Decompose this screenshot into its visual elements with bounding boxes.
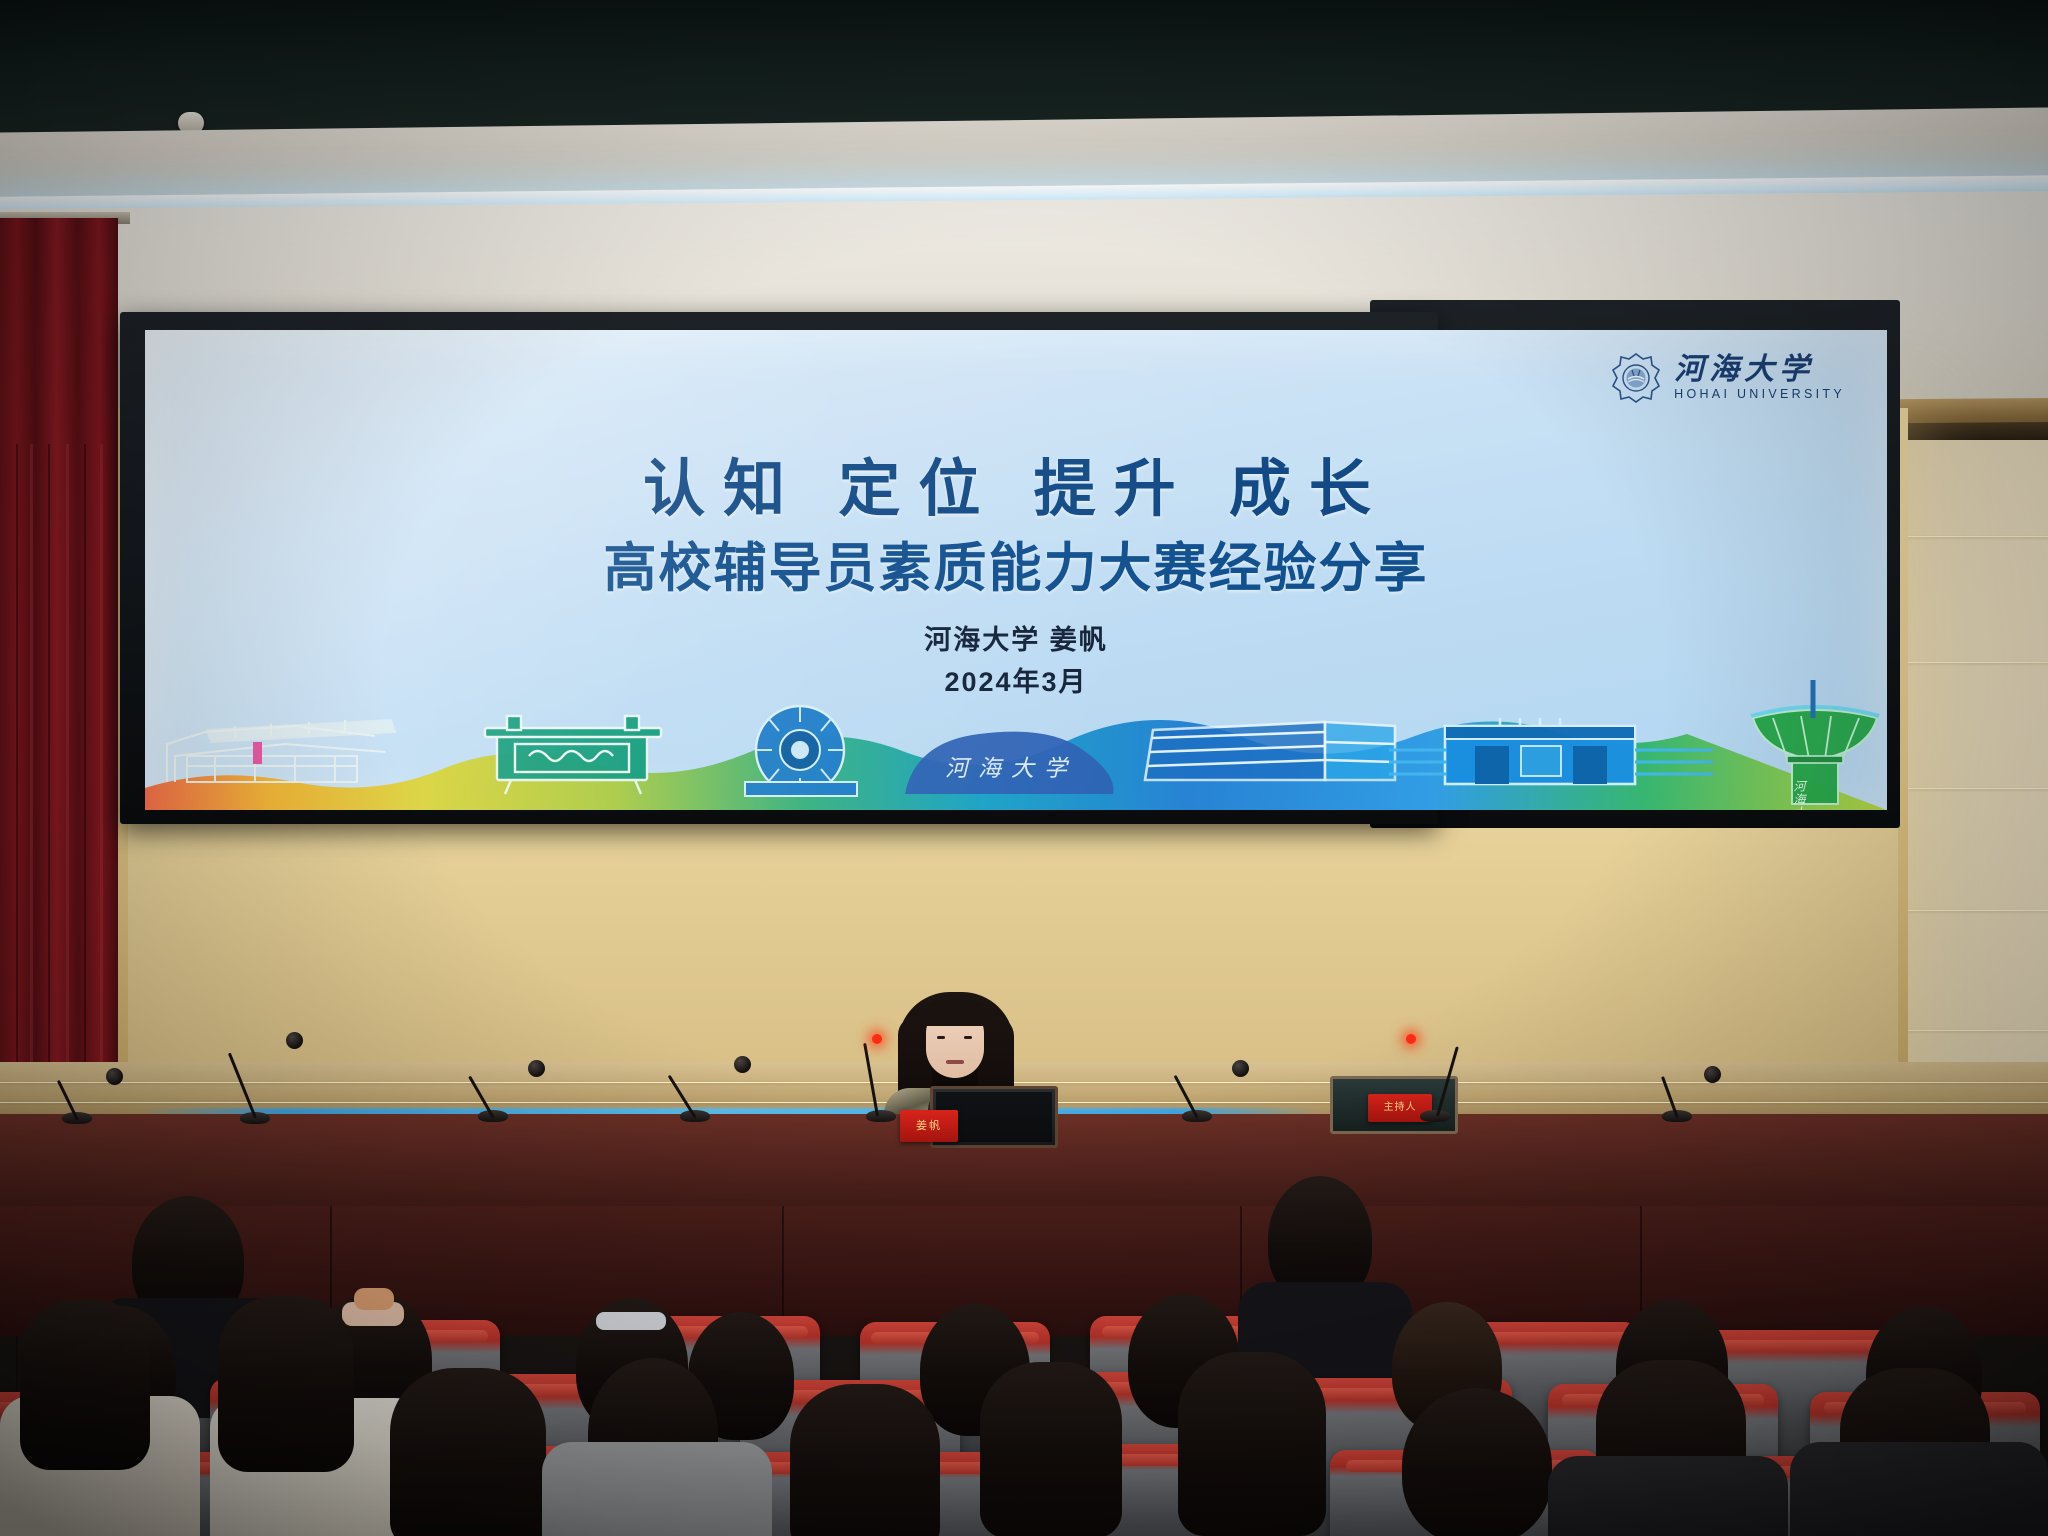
audience-person: [980, 1362, 1122, 1536]
led-presentation-screen: 河海大学 HOHAI UNIVERSITY 认知 定位 提升 成长 高校辅导员素…: [145, 330, 1887, 810]
hohai-logo-chinese: 河海大学: [1674, 353, 1814, 386]
slide-subtitle: 高校辅导员素质能力大赛经验分享: [145, 526, 1887, 602]
audience-person-hoodie: [542, 1442, 772, 1536]
audience-person-coat: [1790, 1442, 2048, 1536]
hohai-logo-text: 河海大学 HOHAI UNIVERSITY: [1674, 355, 1845, 401]
audience-person-coat: [1548, 1456, 1788, 1536]
hohai-university-crest-icon: [1610, 352, 1662, 404]
hohai-logo-english: HOHAI UNIVERSITY: [1674, 388, 1845, 401]
audience-person: [1402, 1388, 1552, 1536]
svg-text:河海大学: 河海大学: [945, 756, 1077, 781]
audience-person: [218, 1296, 354, 1472]
presenter-nameplate-text: 姜帆: [900, 1110, 958, 1142]
audience-person: [1178, 1352, 1326, 1536]
audience-person: [790, 1384, 940, 1536]
hohai-university-logo: 河海大学 HOHAI UNIVERSITY: [1610, 352, 1845, 404]
svg-text:河海大学: 河海大学: [1791, 780, 1806, 810]
auditorium-scene: 河海大学 HOHAI UNIVERSITY 认知 定位 提升 成长 高校辅导员素…: [0, 0, 2048, 1536]
slide-presenter-line: 河海大学 姜帆: [145, 618, 1887, 657]
audience-person: [20, 1300, 150, 1470]
stage-curtain-left: [0, 218, 118, 1188]
presenter-nameplate: 姜帆: [900, 1110, 958, 1142]
slide-title: 认知 定位 提升 成长: [145, 438, 1887, 528]
audience-person: [390, 1368, 546, 1536]
campus-landmarks-skyline: 河海大学: [145, 670, 1887, 810]
